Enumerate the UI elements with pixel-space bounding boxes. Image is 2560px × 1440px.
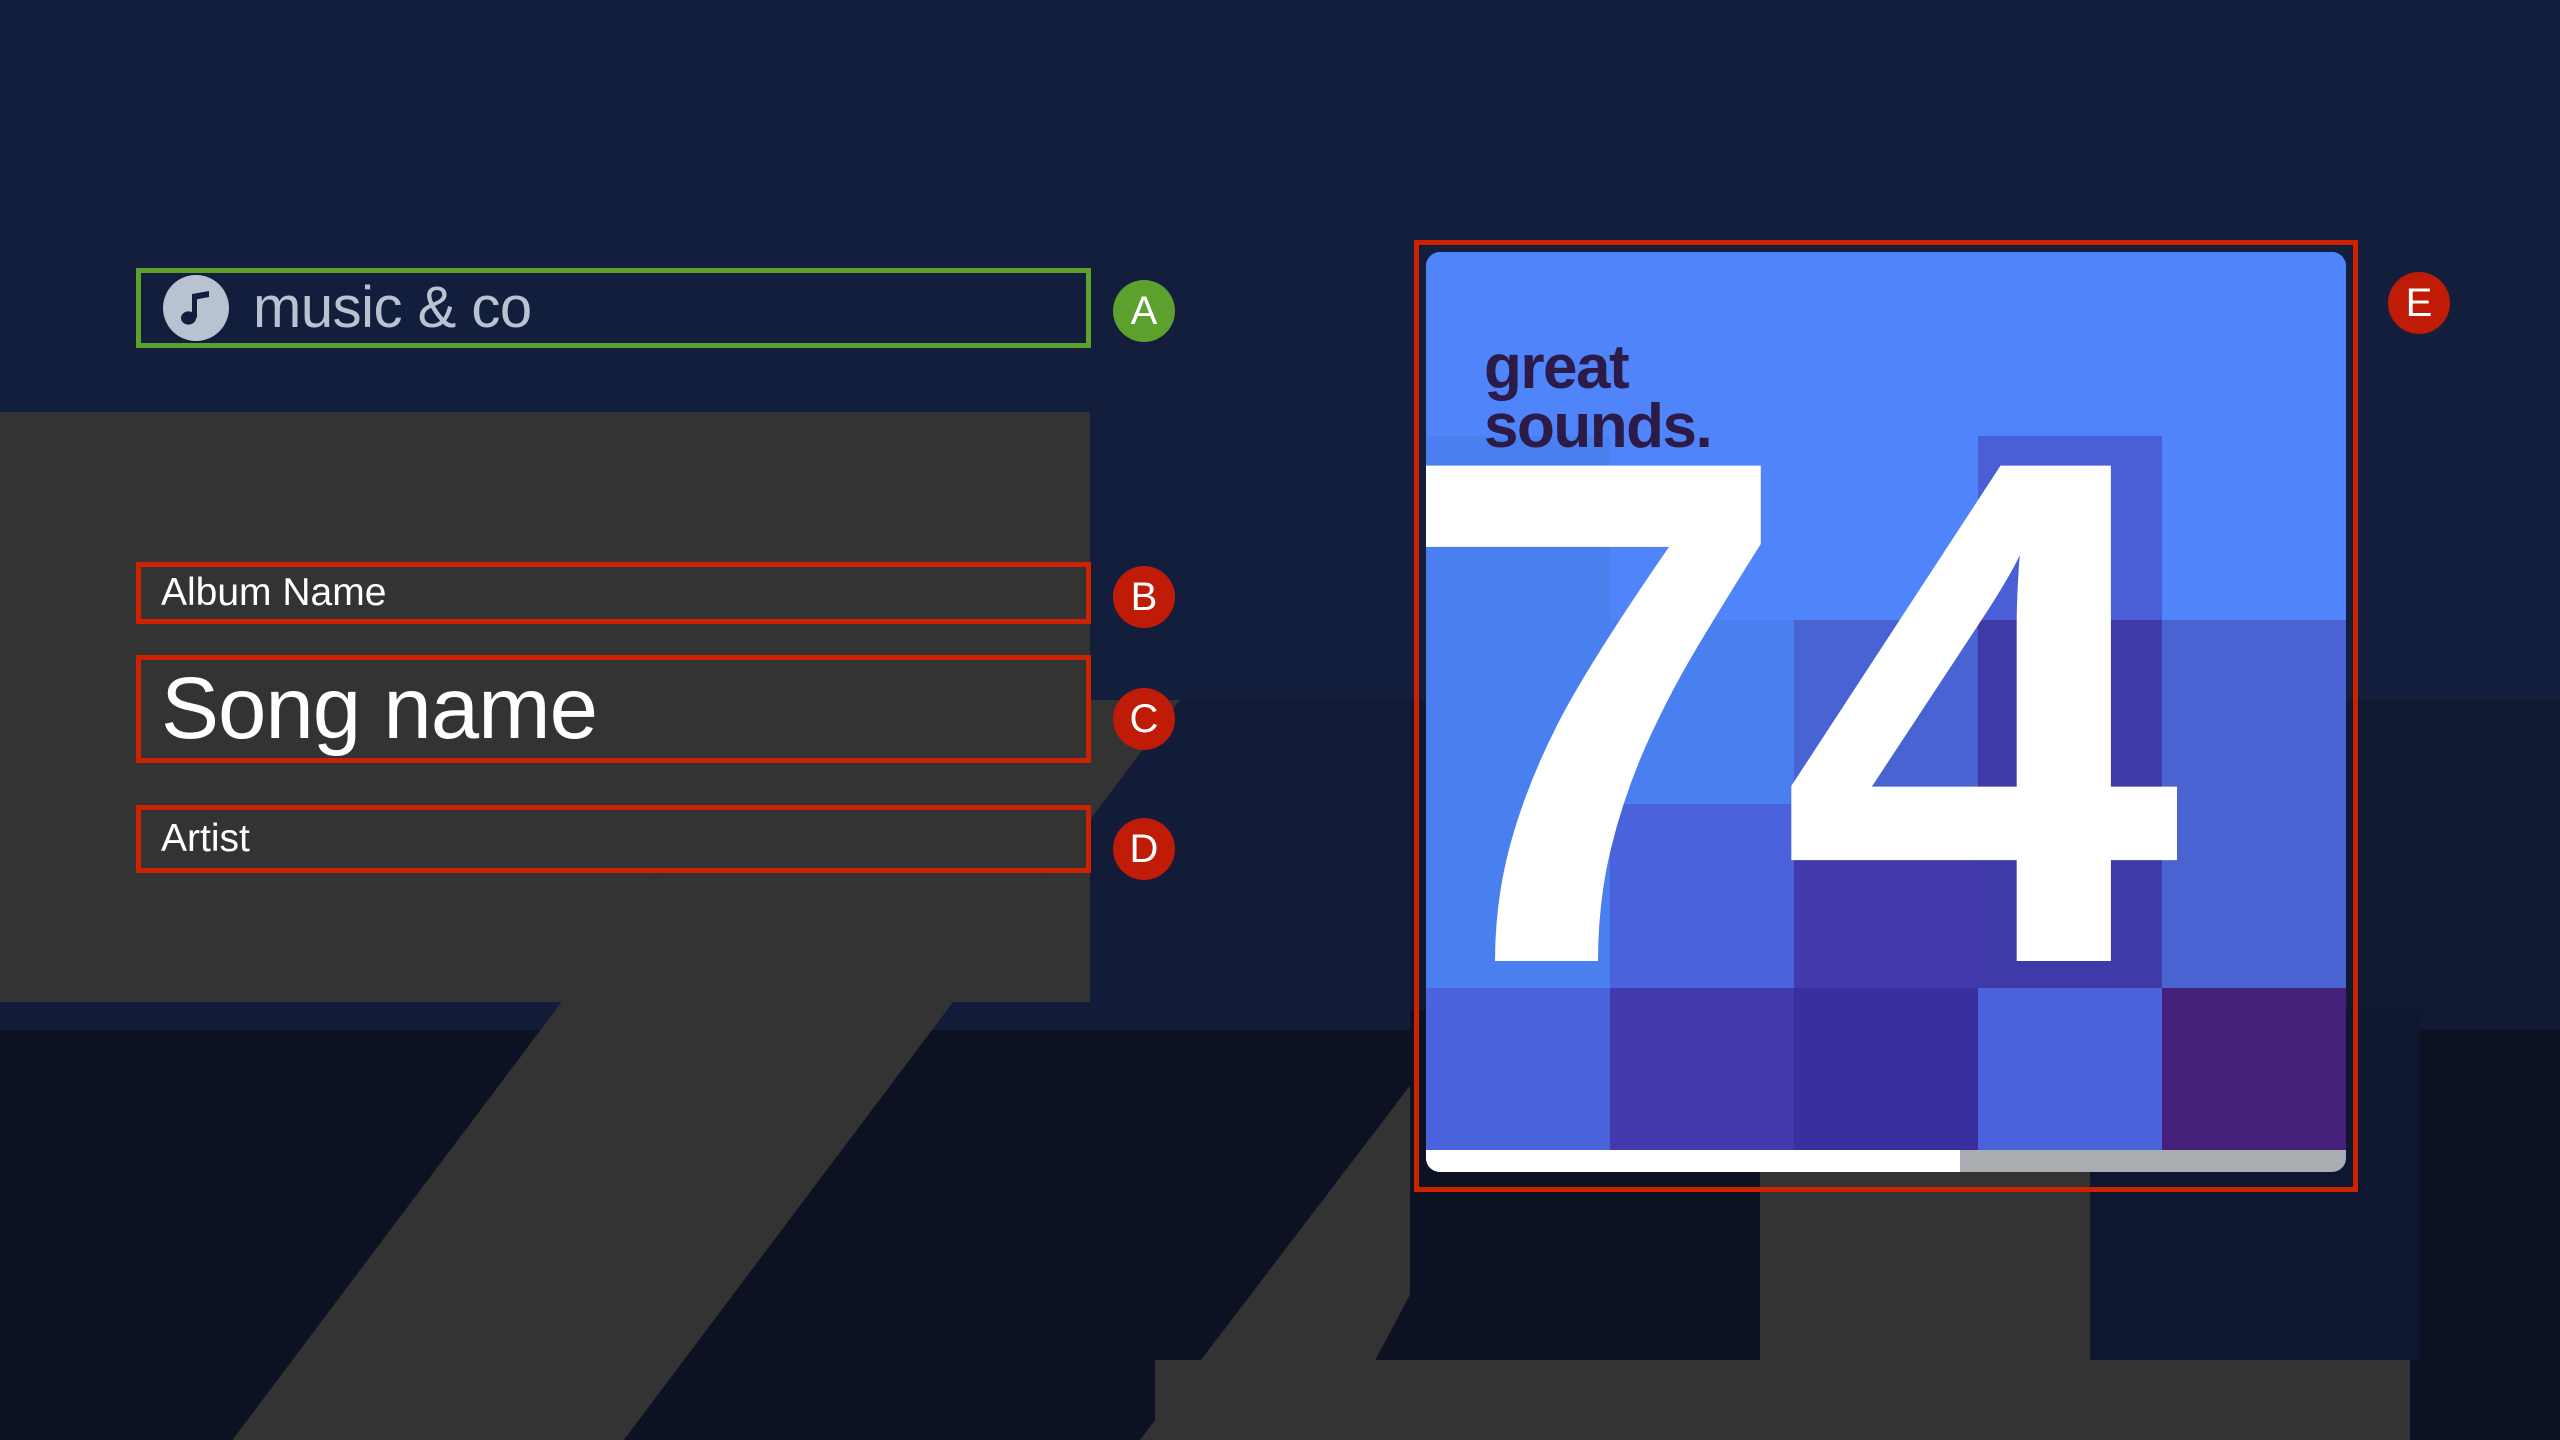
brand-inner: music & co [141,275,532,341]
artist-label: Artist [141,817,250,861]
brand-logo-field[interactable]: music & co [136,268,1091,348]
artist-field[interactable]: Artist [136,805,1091,873]
annotation-badge-c: C [1113,688,1175,750]
screen-root: music & co A Album Name B Song name C Ar… [0,0,2560,1440]
brand-name-label: music & co [253,279,532,337]
album-name-field[interactable]: Album Name [136,562,1091,624]
annotation-badge-b: B [1113,566,1175,628]
annotation-badge-a: A [1113,280,1175,342]
annotation-badge-e: E [2388,272,2450,334]
album-art-highlight-outline [1414,240,2358,1192]
music-note-circle-icon [163,275,229,341]
album-name-label: Album Name [141,571,386,615]
annotation-badge-d: D [1113,818,1175,880]
song-name-label: Song name [141,659,597,759]
song-name-field[interactable]: Song name [136,655,1091,763]
background-navy-top-panel [0,0,1090,412]
